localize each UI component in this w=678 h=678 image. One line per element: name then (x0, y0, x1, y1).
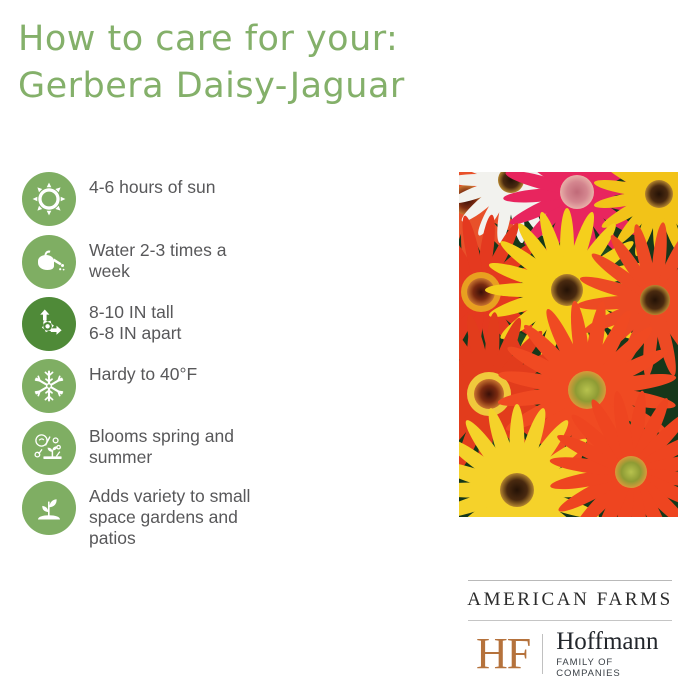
care-text-line: Adds variety to small (89, 486, 352, 507)
hf-monogram: HF (462, 632, 542, 676)
care-item-spacing-text: 8-10 IN tall 6-8 IN apart (76, 297, 352, 344)
care-item-variety-text: Adds variety to small space gardens and … (76, 481, 352, 549)
page-title: How to care for your: Gerbera Daisy-Jagu… (18, 16, 578, 110)
plant-care-card: How to care for your: Gerbera Daisy-Jagu… (0, 0, 678, 678)
care-text-line: space gardens and (89, 507, 352, 528)
logo-brand-name: AMERICAN FARMS (462, 589, 678, 611)
bloom-season-icon (22, 421, 76, 475)
care-text-line: week (89, 261, 352, 282)
care-item-watering-text: Water 2-3 times a week (76, 235, 352, 282)
watering-can-icon (22, 235, 76, 289)
plant-photo (459, 172, 678, 517)
care-text-line: summer (89, 447, 352, 468)
care-text-line: patios (89, 528, 352, 549)
seedling-icon (22, 481, 76, 535)
care-item-hardiness: Hardy to 40°F (22, 359, 352, 413)
care-item-hardiness-text: Hardy to 40°F (76, 359, 352, 385)
logo-divider (542, 634, 543, 674)
logo-wordmark: Hoffmann FAMILY OF COMPANIES (556, 628, 678, 678)
title-line-1: How to care for your: (18, 16, 578, 62)
plant-spacing-icon (22, 297, 76, 351)
care-item-variety: Adds variety to small space gardens and … (22, 481, 352, 549)
care-item-bloom-season-text: Blooms spring and summer (76, 421, 352, 468)
care-item-watering: Water 2-3 times a week (22, 235, 352, 289)
care-item-spacing: 8-10 IN tall 6-8 IN apart (22, 297, 352, 351)
care-item-bloom-season: Blooms spring and summer (22, 421, 352, 475)
sun-icon (22, 172, 76, 226)
care-text-line: 8-10 IN tall (89, 302, 352, 323)
care-text-line: Hardy to 40°F (89, 364, 352, 385)
care-text-line: Blooms spring and (89, 426, 352, 447)
snowflake-icon (22, 359, 76, 413)
company-logo: AMERICAN FARMS HF Hoffmann FAMILY OF COM… (462, 580, 678, 678)
care-item-sunlight: 4-6 hours of sun (22, 172, 352, 226)
logo-company-name: Hoffmann (556, 629, 678, 655)
care-text-line: 4-6 hours of sun (89, 177, 352, 198)
care-text-line: 6-8 IN apart (89, 323, 352, 344)
logo-lockup: HF Hoffmann FAMILY OF COMPANIES (462, 621, 678, 678)
care-text-line: Water 2-3 times a (89, 240, 352, 261)
logo-rule-top (468, 580, 672, 581)
logo-tagline: FAMILY OF COMPANIES (556, 655, 678, 678)
title-line-2: Gerbera Daisy-Jaguar (18, 62, 578, 110)
care-instruction-list: 4-6 hours of sun Water 2-3 tim (22, 172, 352, 549)
care-item-sunlight-text: 4-6 hours of sun (76, 172, 352, 198)
